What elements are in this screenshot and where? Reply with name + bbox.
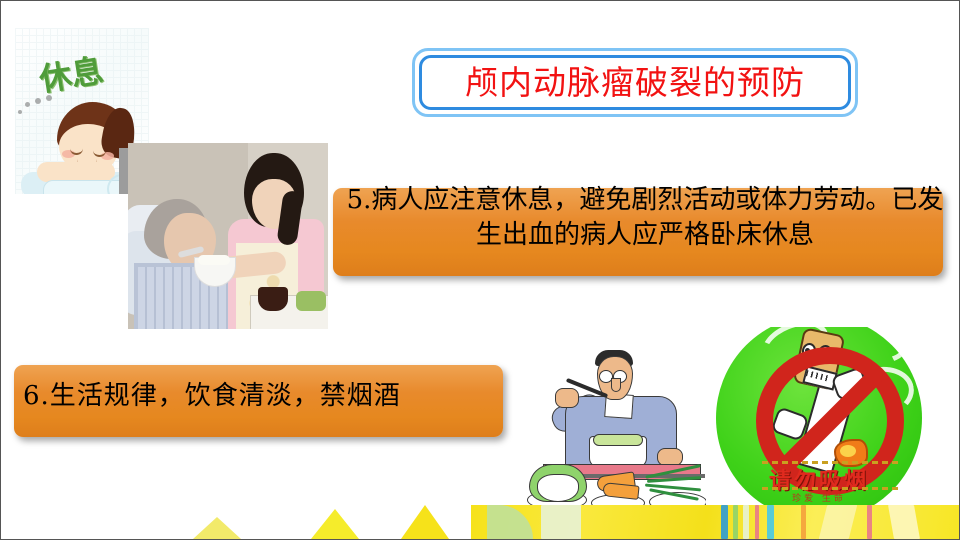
decor-stripe — [767, 505, 774, 539]
nurse-feeding-patient-photo — [128, 143, 328, 329]
no-smoking-green-circle: 请勿吸烟 珍爱 生命 — [716, 327, 922, 521]
bullet-6-text: 6.生活规律，饮食清淡，禁烟酒 — [23, 379, 493, 414]
child-arm-shape — [37, 162, 115, 182]
bullet-5-text: 5.病人应注意休息，避免剧烈活动或体力劳动。已发生出血的病人应严格卧床休息 — [341, 183, 949, 252]
man-eating-vegetables-clipart — [513, 344, 713, 516]
decor-yellow-band — [471, 505, 960, 539]
decor-stripe — [755, 505, 759, 539]
cabbage-stalk — [537, 474, 579, 502]
man-nose — [611, 378, 621, 392]
decorative-dashed-line — [762, 487, 902, 490]
decor-stripe — [733, 505, 738, 539]
decor-stripe — [819, 505, 857, 539]
dream-dot-icon — [35, 98, 41, 104]
decor-stripe — [867, 505, 872, 539]
title-box-inner: 颅内动脉瘤破裂的预防 — [419, 55, 851, 110]
dream-dot-icon — [25, 102, 30, 107]
dream-dot-icon — [18, 110, 22, 114]
decor-stripe — [541, 505, 581, 539]
no-smoking-sign: 请勿吸烟 珍爱 生命 — [706, 327, 946, 526]
decor-stripe — [721, 505, 728, 539]
no-smoking-subtext: 珍爱 生命 — [716, 491, 922, 504]
scallion-vegetable — [645, 466, 705, 502]
decor-stripe — [487, 505, 533, 539]
soup-cup — [258, 287, 288, 311]
title-box-outer: 颅内动脉瘤破裂的预防 — [412, 48, 858, 117]
vegetable-side-dish — [296, 291, 326, 311]
decor-stripe — [888, 505, 920, 539]
decor-stripe — [801, 505, 806, 539]
decor-triangle — [193, 517, 241, 539]
page-title: 颅内动脉瘤破裂的预防 — [465, 66, 805, 99]
decor-triangle — [401, 505, 449, 539]
decor-stripe — [743, 505, 749, 539]
dream-dot-icon — [46, 95, 52, 101]
soup-greens — [593, 434, 643, 446]
slide-canvas: 休息 — [0, 0, 960, 540]
man-left-hand — [555, 388, 579, 408]
decor-triangle — [311, 509, 359, 539]
rice-contents — [198, 255, 230, 265]
bottom-decorative-band — [1, 505, 960, 539]
scallion-stem — [647, 476, 701, 483]
